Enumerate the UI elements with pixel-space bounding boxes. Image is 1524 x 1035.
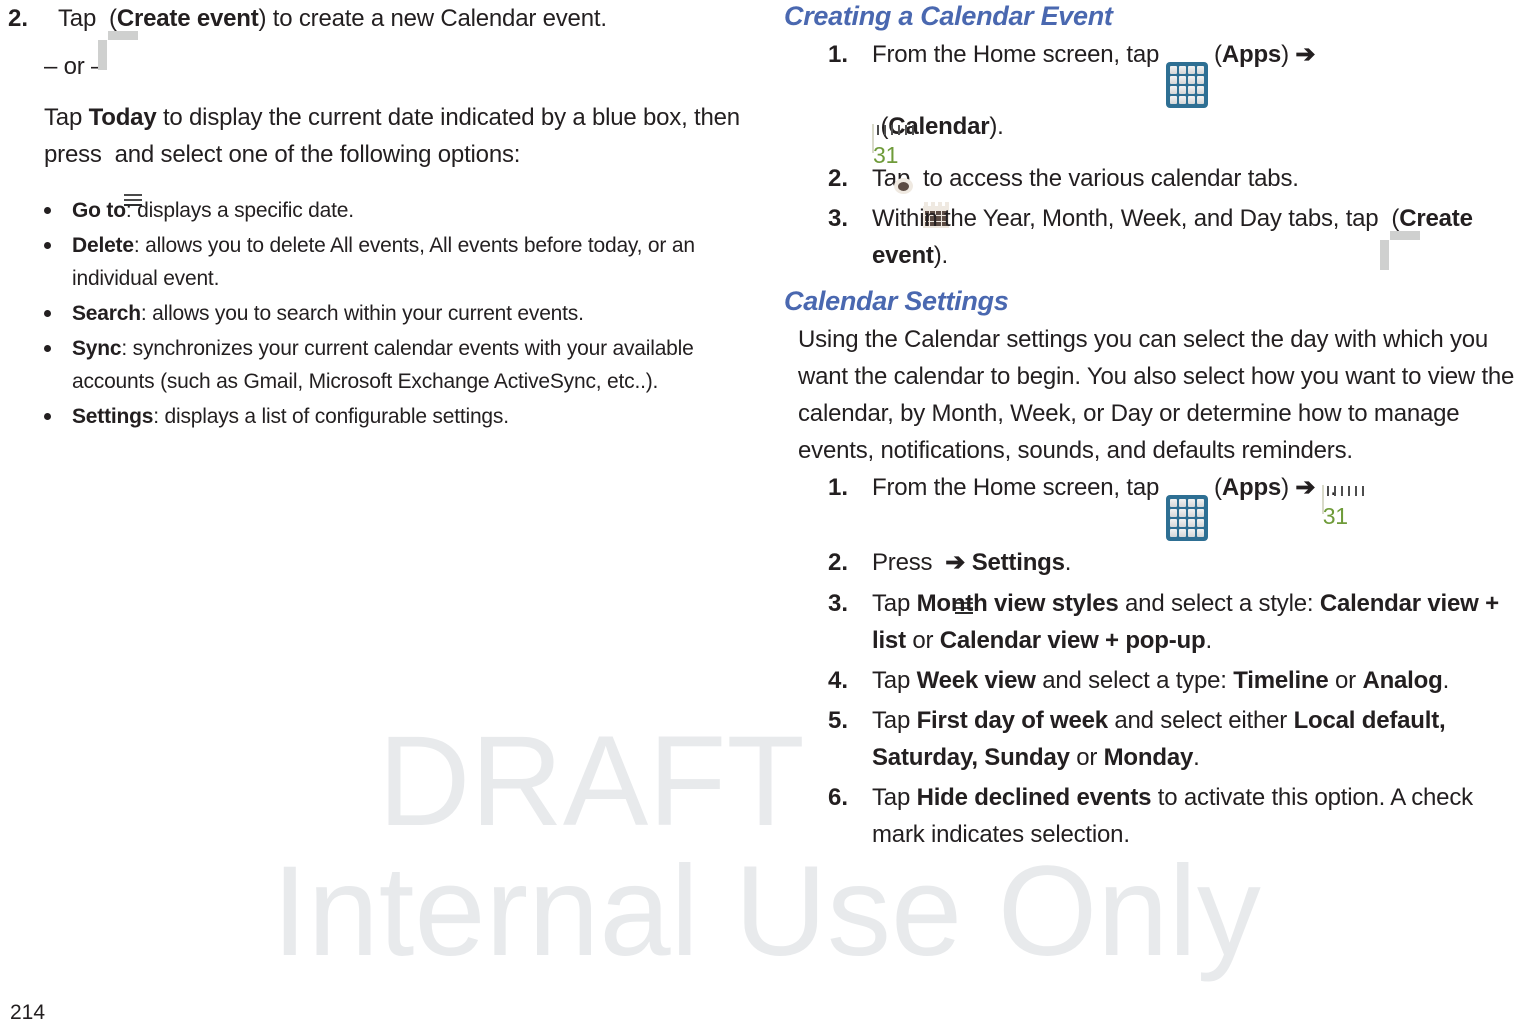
step-part1: From the Home screen, tap <box>872 41 1166 68</box>
step-part1: Tap <box>872 784 917 811</box>
step-part2: and select a style: <box>1119 590 1320 617</box>
arrow-right-icon: ➔ <box>1295 469 1315 506</box>
step-number: 3. <box>828 585 848 622</box>
analog-bold-label: Analog <box>1362 667 1442 694</box>
page-number: 214 <box>10 1001 45 1025</box>
option-term: Go to <box>72 199 126 222</box>
step-text: From the Home screen, tap (Apps) ➔31 (Ca… <box>872 41 1315 140</box>
step-item: 2. Tap (Create event) to create a new Ca… <box>0 0 742 37</box>
calendar-settings-steps: 1. From the Home screen, tap (Apps) ➔ 31… <box>784 469 1524 853</box>
list-item: Go to: displays a specific date. <box>0 194 742 227</box>
list-item: Search: allows you to search within your… <box>0 297 742 330</box>
step-text-before-icon: Tap <box>58 5 96 32</box>
step-part1: Tap <box>872 707 917 734</box>
monday-bold-label: Monday <box>1104 744 1193 771</box>
today-part3: and select one of the following options: <box>108 141 520 168</box>
step-number: 5. <box>828 702 848 739</box>
step-text: Tap First day of week and select either … <box>872 707 1445 771</box>
list-item: Settings: displays a list of configurabl… <box>0 400 742 433</box>
step-part5: ). <box>989 113 1003 140</box>
option-term: Search <box>72 302 141 325</box>
step-item: 2. Press ➔ Settings. <box>784 544 1524 582</box>
apps-bold-label: Apps <box>1222 41 1281 68</box>
step-item: 1. From the Home screen, tap (Apps) ➔31 … <box>784 36 1524 157</box>
list-item: Delete: allows you to delete All events,… <box>0 229 742 295</box>
step-text: Within the Year, Month, Week, and Day ta… <box>872 205 1473 269</box>
left-column: 2. Tap (Create event) to create a new Ca… <box>0 0 742 435</box>
today-bold-label: Today <box>89 104 157 131</box>
step-number: 2. <box>8 0 28 37</box>
hide-declined-events-bold-label: Hide declined events <box>917 784 1152 811</box>
step-text: Tap Week view and select a type: Timelin… <box>872 667 1449 694</box>
step-number: 2. <box>828 544 848 581</box>
or-divider: – or – <box>0 48 742 85</box>
option-desc: : displays a specific date. <box>126 199 354 222</box>
step-item: 1. From the Home screen, tap (Apps) ➔ 31… <box>784 469 1524 541</box>
step-part2: and select a type: <box>1036 667 1233 694</box>
option-desc: : allows you to delete All events, All e… <box>72 234 695 290</box>
bullet-dot-icon <box>44 345 51 352</box>
arrow-right-icon: ➔ <box>945 544 965 581</box>
option-term: Sync <box>72 337 121 360</box>
step-number: 6. <box>828 779 848 816</box>
step-item: 4. Tap Week view and select a type: Time… <box>784 662 1524 699</box>
create-event-bold-label: Create event <box>117 5 259 32</box>
step-item: 6. Tap Hide declined events to activate … <box>784 779 1524 853</box>
calendar-view-popup-bold-label: Calendar view + pop-up <box>940 627 1206 654</box>
month-view-styles-bold-label: Month view styles <box>917 590 1119 617</box>
step-item: 3. Tap Month view styles and select a st… <box>784 585 1524 659</box>
bullet-dot-icon <box>44 310 51 317</box>
step-number: 1. <box>828 36 848 73</box>
step-item: 5. Tap First day of week and select eith… <box>784 702 1524 776</box>
step-text: Press ➔ Settings. <box>872 549 1071 576</box>
today-paragraph: Tap Today to display the current date in… <box>0 99 742 174</box>
apps-grid-icon <box>1166 62 1208 108</box>
step-item: 3. Within the Year, Month, Week, and Day… <box>784 200 1524 274</box>
step-part1: Tap <box>872 590 917 617</box>
step-part2: ( <box>1208 41 1222 68</box>
step-part3: ) <box>1281 474 1295 501</box>
manual-page: 2. Tap (Create event) to create a new Ca… <box>0 0 1524 1035</box>
step-text: Tap to access the various calendar tabs. <box>872 165 1299 192</box>
step-part2: to access the various calendar tabs. <box>917 165 1299 192</box>
creating-event-steps: 1. From the Home screen, tap (Apps) ➔31 … <box>784 36 1524 274</box>
week-view-bold-label: Week view <box>917 667 1036 694</box>
step-part4: . <box>1193 744 1199 771</box>
right-column: Creating a Calendar Event 1. From the Ho… <box>784 0 1524 856</box>
step-text: Tap Month view styles and select a style… <box>872 590 1499 654</box>
section-heading-calendar-settings: Calendar Settings <box>784 285 1524 317</box>
step-text: From the Home screen, tap (Apps) ➔ 31 . <box>872 474 1337 501</box>
calendar-settings-intro: Using the Calendar settings you can sele… <box>784 321 1524 469</box>
step-part3: ). <box>934 242 948 269</box>
calendar-31-icon: 31 <box>1322 481 1324 518</box>
step-part4: . <box>1443 667 1449 694</box>
bullet-dot-icon <box>44 242 51 249</box>
step-part1: From the Home screen, tap <box>872 474 1166 501</box>
first-day-of-week-bold-label: First day of week <box>917 707 1108 734</box>
step-number: 4. <box>828 662 848 699</box>
section-heading-creating-a-calendar-event: Creating a Calendar Event <box>784 0 1524 32</box>
step-number: 1. <box>828 469 848 506</box>
step-number: 2. <box>828 160 848 197</box>
option-desc: : allows you to search within your curre… <box>141 302 584 325</box>
apps-bold-label: Apps <box>1222 474 1281 501</box>
today-part1: Tap <box>44 104 89 131</box>
option-term: Delete <box>72 234 134 257</box>
step-part3: or <box>906 627 940 654</box>
step-number: 3. <box>828 200 848 237</box>
step-part2: ( <box>1385 205 1399 232</box>
step-part4: . <box>1205 627 1211 654</box>
step-part3: or <box>1070 744 1104 771</box>
list-item: Sync: synchronizes your current calendar… <box>0 332 742 398</box>
timeline-bold-label: Timeline <box>1233 667 1328 694</box>
step-part2: and select either <box>1108 707 1294 734</box>
apps-grid-icon <box>1166 495 1208 541</box>
step-part3: ) <box>1281 41 1295 68</box>
step-part4: . <box>1065 549 1071 576</box>
bullet-dot-icon <box>44 207 51 214</box>
option-term: Settings <box>72 405 153 428</box>
option-desc: : displays a list of configurable settin… <box>153 405 509 428</box>
step-part1: Tap <box>872 667 917 694</box>
step-text: Tap (Create event) to create a new Calen… <box>58 5 607 32</box>
bullet-dot-icon <box>44 413 51 420</box>
option-desc: : synchronizes your current calendar eve… <box>72 337 694 393</box>
step-text: Tap Hide declined events to activate thi… <box>872 784 1473 848</box>
step-part1: Press <box>872 549 939 576</box>
settings-bold-label: Settings <box>972 549 1065 576</box>
step-item: 2. Tap to access the various calendar ta… <box>784 160 1524 197</box>
calendar-31-icon: 31 <box>872 120 874 157</box>
arrow-right-icon: ➔ <box>1295 36 1315 73</box>
menu-options-list: Go to: displays a specific date. Delete:… <box>0 194 742 433</box>
step-part1: Within the Year, Month, Week, and Day ta… <box>872 205 1385 232</box>
step-part3: or <box>1329 667 1363 694</box>
step-part2: ( <box>1208 474 1222 501</box>
